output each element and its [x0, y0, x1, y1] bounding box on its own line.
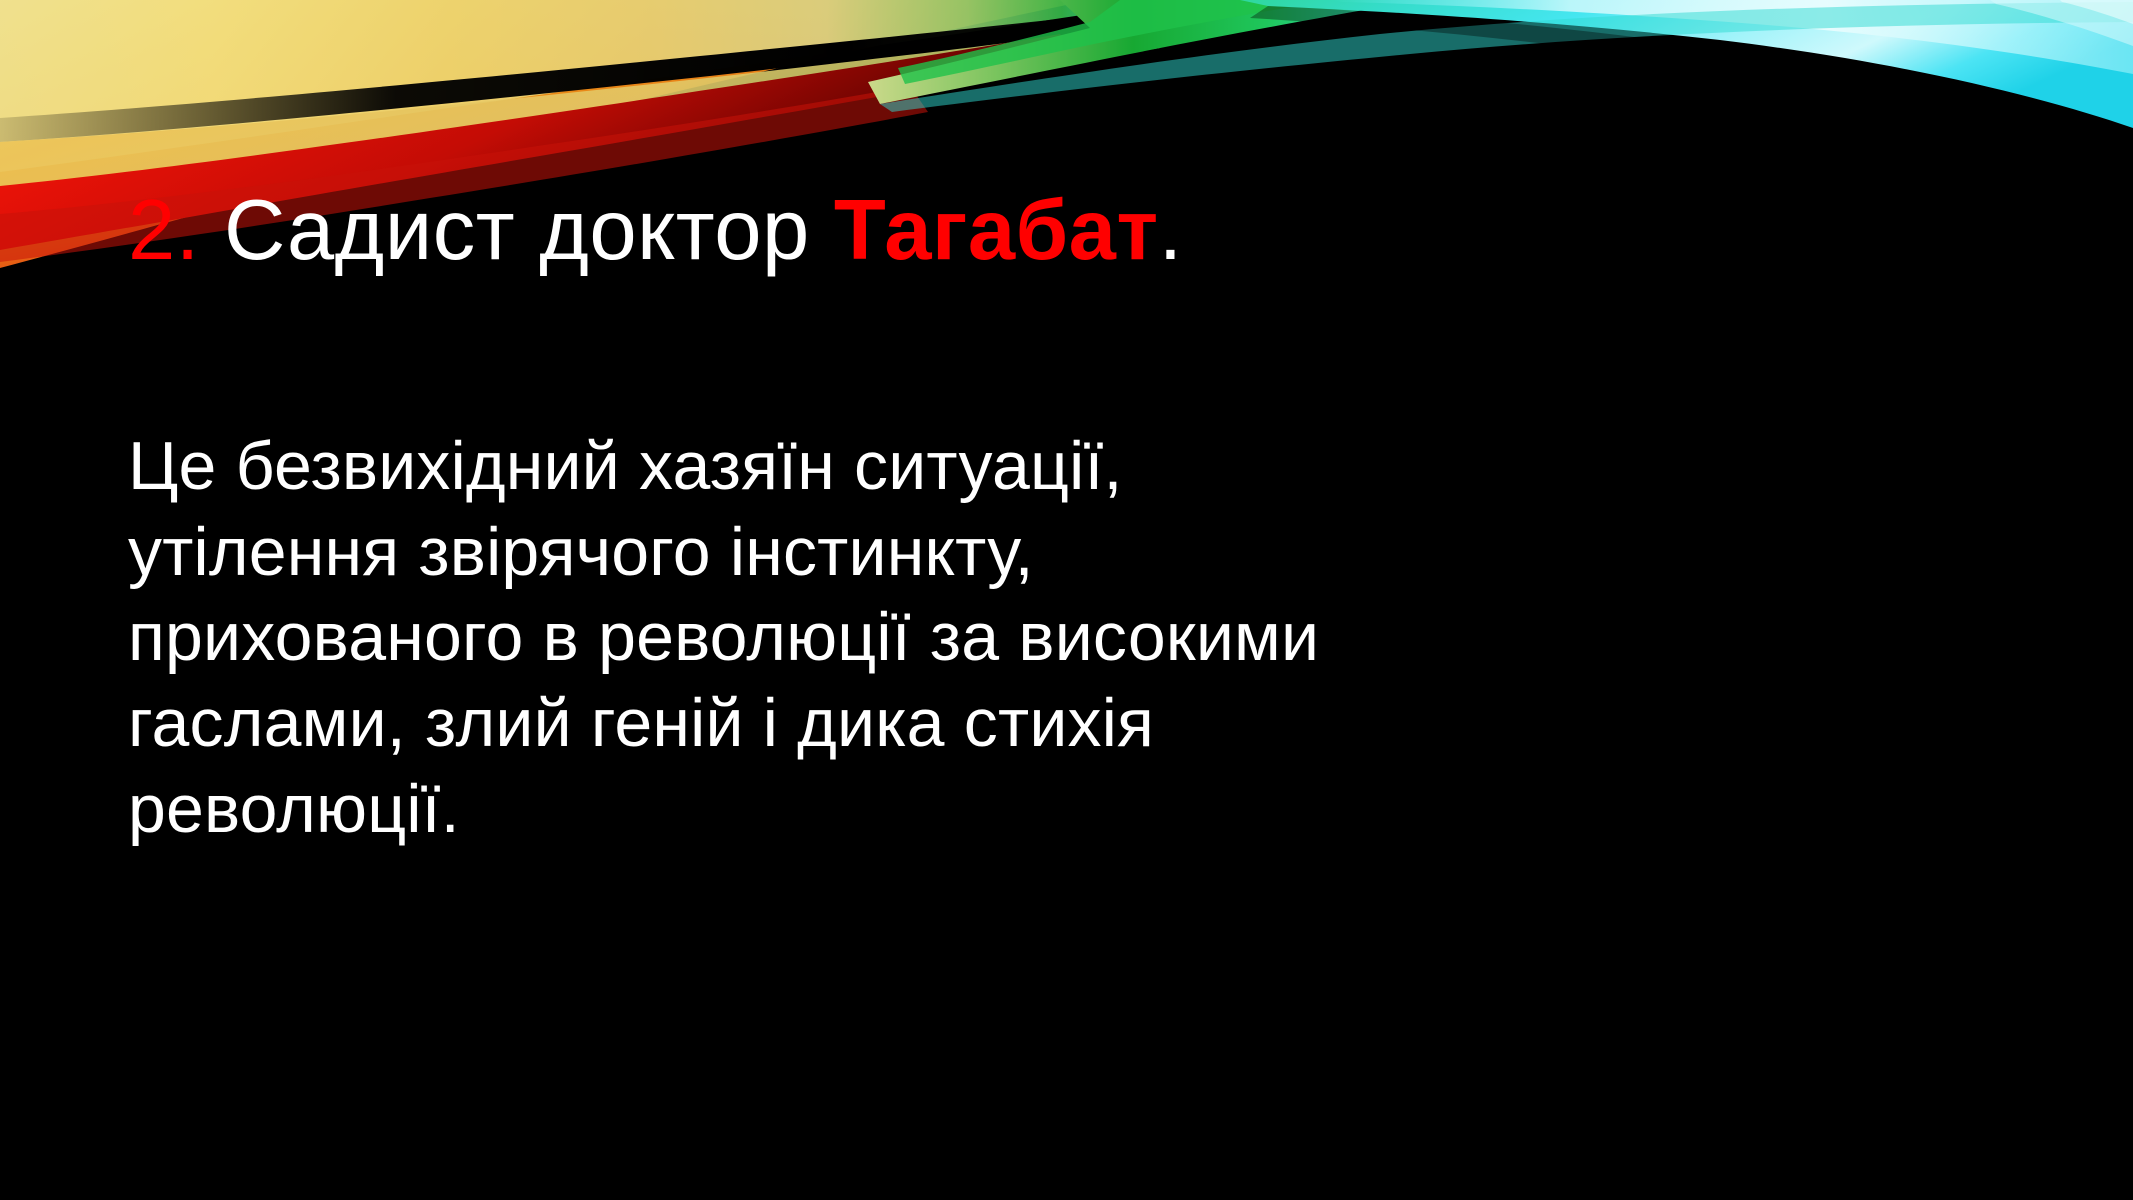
title-main-text: Садист доктор	[224, 183, 810, 278]
title-accent-text: Тагабат	[834, 183, 1159, 278]
body-line: революції.	[128, 767, 1958, 853]
title-tail-text: .	[1159, 183, 1183, 278]
body-line: гаслами, злий геній і дика стихія	[128, 681, 1958, 767]
presentation-slide: 2. Садист доктор Тагабат. Це безвихідний…	[0, 0, 2133, 1200]
title-number: 2.	[128, 183, 200, 278]
body-line: утілення звірячого інстинкту,	[128, 510, 1958, 596]
body-line: Це безвихідний хазяїн ситуації,	[128, 424, 1958, 510]
body-line: прихованого в революції за високими	[128, 595, 1958, 681]
slide-body-text: Це безвихідний хазяїн ситуації, утілення…	[128, 424, 1958, 852]
slide-title: 2. Садист доктор Тагабат.	[128, 185, 1958, 277]
slide-text-content: 2. Садист доктор Тагабат. Це безвихідний…	[128, 0, 2008, 1200]
